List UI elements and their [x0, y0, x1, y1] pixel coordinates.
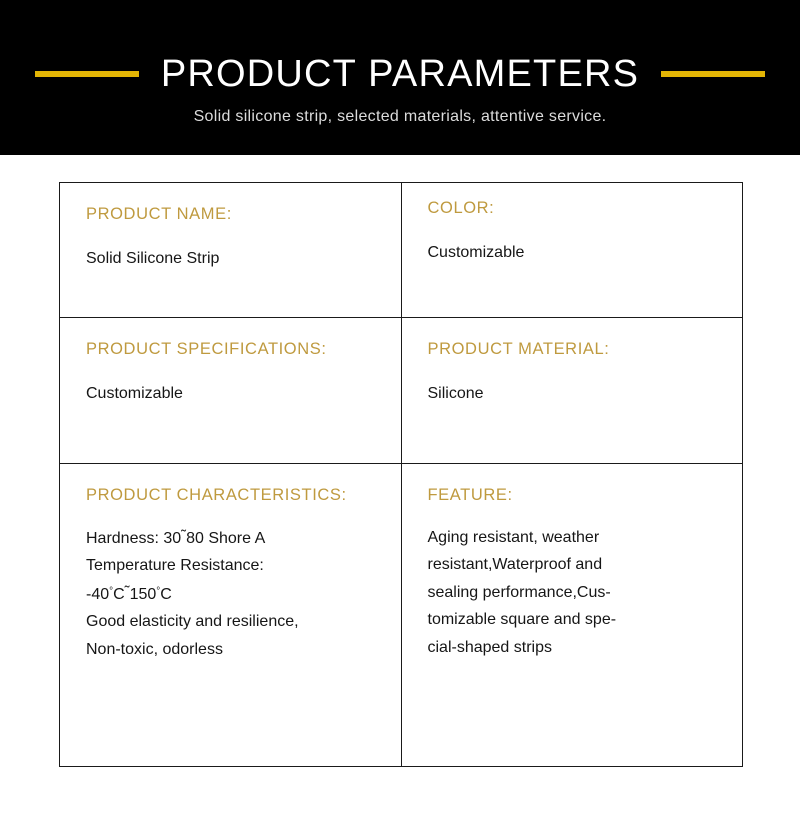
cell-value-line: Hardness: 30˜80 Shore A	[86, 524, 401, 552]
title-row: PRODUCT PARAMETERS	[0, 50, 800, 98]
cell-value-line: Non-toxic, odorless	[86, 636, 401, 664]
cell-value: Hardness: 30˜80 Shore ATemperature Resis…	[86, 524, 401, 663]
cell-product-characteristics: PRODUCT CHARACTERISTICS: Hardness: 30˜80…	[60, 464, 402, 767]
cell-value-line: resistant,Waterproof and	[428, 551, 743, 579]
cell-value-line: tomizable square and spe-	[428, 606, 743, 634]
cell-label: PRODUCT SPECIFICATIONS:	[86, 340, 401, 360]
page-subtitle: Solid silicone strip, selected materials…	[0, 106, 800, 128]
cell-value-line: cial-shaped strips	[428, 634, 743, 662]
cell-label: PRODUCT NAME:	[86, 205, 401, 225]
cell-value: Customizable	[428, 241, 743, 264]
cell-value-line: -40°C˜150°C	[86, 580, 401, 608]
page-title: PRODUCT PARAMETERS	[161, 55, 639, 93]
cell-product-name: PRODUCT NAME: Solid Silicone Strip	[60, 183, 402, 318]
cell-value-line: Good elasticity and resilience,	[86, 608, 401, 636]
cell-product-specifications: PRODUCT SPECIFICATIONS: Customizable	[60, 318, 402, 464]
cell-label: PRODUCT CHARACTERISTICS:	[86, 486, 401, 506]
title-rule-right	[661, 71, 765, 77]
cell-label: FEATURE:	[428, 486, 743, 506]
cell-value: Aging resistant, weatherresistant,Waterp…	[428, 524, 743, 662]
cell-value-line: Temperature Resistance:	[86, 552, 401, 580]
cell-feature: FEATURE: Aging resistant, weatherresista…	[401, 464, 743, 767]
product-parameters-table: PRODUCT NAME: Solid Silicone Strip COLOR…	[59, 182, 743, 767]
cell-label: PRODUCT MATERIAL:	[428, 340, 743, 360]
cell-value-line: Aging resistant, weather	[428, 524, 743, 552]
cell-value: Solid Silicone Strip	[86, 247, 401, 270]
table-row: PRODUCT SPECIFICATIONS: Customizable PRO…	[60, 318, 743, 464]
cell-color: COLOR: Customizable	[401, 183, 743, 318]
title-rule-left	[35, 71, 139, 77]
page-header: PRODUCT PARAMETERS Solid silicone strip,…	[0, 0, 800, 155]
cell-label: COLOR:	[428, 199, 743, 219]
table-row: PRODUCT CHARACTERISTICS: Hardness: 30˜80…	[60, 464, 743, 767]
spec-table-wrapper: PRODUCT NAME: Solid Silicone Strip COLOR…	[59, 182, 743, 767]
cell-value-line: sealing performance,Cus-	[428, 579, 743, 607]
cell-product-material: PRODUCT MATERIAL: Silicone	[401, 318, 743, 464]
cell-value: Customizable	[86, 382, 401, 405]
cell-value: Silicone	[428, 382, 743, 405]
table-row: PRODUCT NAME: Solid Silicone Strip COLOR…	[60, 183, 743, 318]
